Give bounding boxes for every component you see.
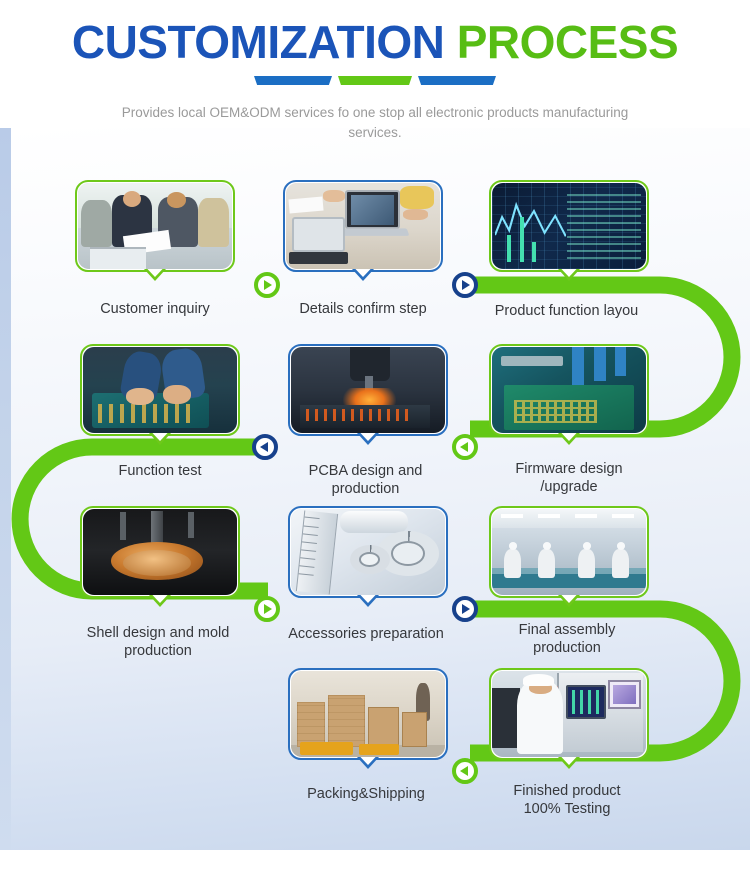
step-label-9-line2: production xyxy=(469,639,665,657)
step-card-1[interactable] xyxy=(75,180,235,272)
step-label-4-line2: /upgrade xyxy=(469,478,669,496)
step-label-10: Packing&Shipping xyxy=(266,785,466,803)
function-test-image xyxy=(83,347,237,433)
step-card-7[interactable] xyxy=(80,506,240,598)
arrow-right-icon xyxy=(462,604,470,614)
step-label-4: Firmware design /upgrade xyxy=(469,460,669,496)
flow-arrow-7[interactable] xyxy=(452,758,478,784)
meeting-handshake-image xyxy=(78,183,232,269)
arrow-left-icon xyxy=(460,766,468,776)
step-label-2: Details confirm step xyxy=(263,300,463,318)
accent-bar-center xyxy=(338,76,412,85)
assembly-line-image xyxy=(492,509,646,595)
flow-arrow-5[interactable] xyxy=(254,596,280,622)
flow-arrow-3[interactable] xyxy=(252,434,278,460)
step-label-5: PCBA design and production xyxy=(268,462,463,498)
flow-arrow-2[interactable] xyxy=(452,272,478,298)
step-thumbnail-9 xyxy=(492,509,646,595)
step-label-7-line2: production xyxy=(52,642,264,660)
step-thumbnail-3 xyxy=(492,183,646,269)
pcba-production-image xyxy=(291,347,445,433)
step-thumbnail-4 xyxy=(492,347,646,433)
step-label-5-line2: production xyxy=(268,480,463,498)
step-card-9[interactable] xyxy=(489,506,649,598)
step-card-5[interactable] xyxy=(288,344,448,436)
step-thumbnail-5 xyxy=(291,347,445,433)
step-label-6: Function test xyxy=(60,462,260,480)
data-dashboard-image xyxy=(492,183,646,269)
arrow-right-icon xyxy=(264,604,272,614)
header: CUSTOMIZATION PROCESS Provides local OEM… xyxy=(0,0,750,128)
step-card-6[interactable] xyxy=(80,344,240,436)
step-label-7: Shell design and mold production xyxy=(52,624,264,660)
page-title: CUSTOMIZATION PROCESS xyxy=(0,16,750,68)
step-thumbnail-10 xyxy=(291,671,445,757)
step-label-4-line1: Firmware design xyxy=(469,460,669,478)
step-label-9: Final assembly production xyxy=(469,621,665,657)
step-label-11-line2: 100% Testing xyxy=(469,800,665,818)
accent-bar-left xyxy=(254,76,332,85)
flow-arrow-4[interactable] xyxy=(452,434,478,460)
title-accent-bars xyxy=(0,76,750,85)
step-thumbnail-8 xyxy=(291,509,445,595)
packing-shipping-image xyxy=(291,671,445,757)
page-subtitle: Provides local OEM&ODM services fo one s… xyxy=(115,103,635,143)
gears-blueprint-image xyxy=(291,509,445,595)
arrow-right-icon xyxy=(462,280,470,290)
arrow-left-icon xyxy=(260,442,268,452)
step-thumbnail-11 xyxy=(492,671,646,757)
customization-process-infographic: CUSTOMIZATION PROCESS Provides local OEM… xyxy=(0,0,750,871)
left-edge-strip xyxy=(0,128,11,850)
step-label-1: Customer inquiry xyxy=(55,300,255,318)
step-thumbnail-6 xyxy=(83,347,237,433)
firmware-design-image xyxy=(492,347,646,433)
accent-bar-right xyxy=(418,76,496,85)
step-card-2[interactable] xyxy=(283,180,443,272)
flow-arrow-6[interactable] xyxy=(452,596,478,622)
arrow-right-icon xyxy=(264,280,272,290)
mold-production-image xyxy=(83,509,237,595)
step-card-8[interactable] xyxy=(288,506,448,598)
step-label-11-line1: Finished product xyxy=(469,782,665,800)
flow-arrow-1[interactable] xyxy=(254,272,280,298)
step-label-5-line1: PCBA design and xyxy=(268,462,463,480)
step-card-3[interactable] xyxy=(489,180,649,272)
step-card-11[interactable] xyxy=(489,668,649,760)
step-thumbnail-1 xyxy=(78,183,232,269)
step-label-11: Finished product 100% Testing xyxy=(469,782,665,818)
step-label-9-line1: Final assembly xyxy=(469,621,665,639)
step-label-3: Product function layou xyxy=(464,302,669,320)
step-card-4[interactable] xyxy=(489,344,649,436)
step-thumbnail-7 xyxy=(83,509,237,595)
step-thumbnail-2 xyxy=(286,183,440,269)
desk-laptop-meeting-image xyxy=(286,183,440,269)
page-title-part1: CUSTOMIZATION xyxy=(72,16,445,68)
arrow-left-icon xyxy=(460,442,468,452)
step-label-8: Accessories preparation xyxy=(266,625,466,643)
finished-product-testing-image xyxy=(492,671,646,757)
page-title-part2: PROCESS xyxy=(457,16,678,68)
step-card-10[interactable] xyxy=(288,668,448,760)
step-label-7-line1: Shell design and mold xyxy=(52,624,264,642)
